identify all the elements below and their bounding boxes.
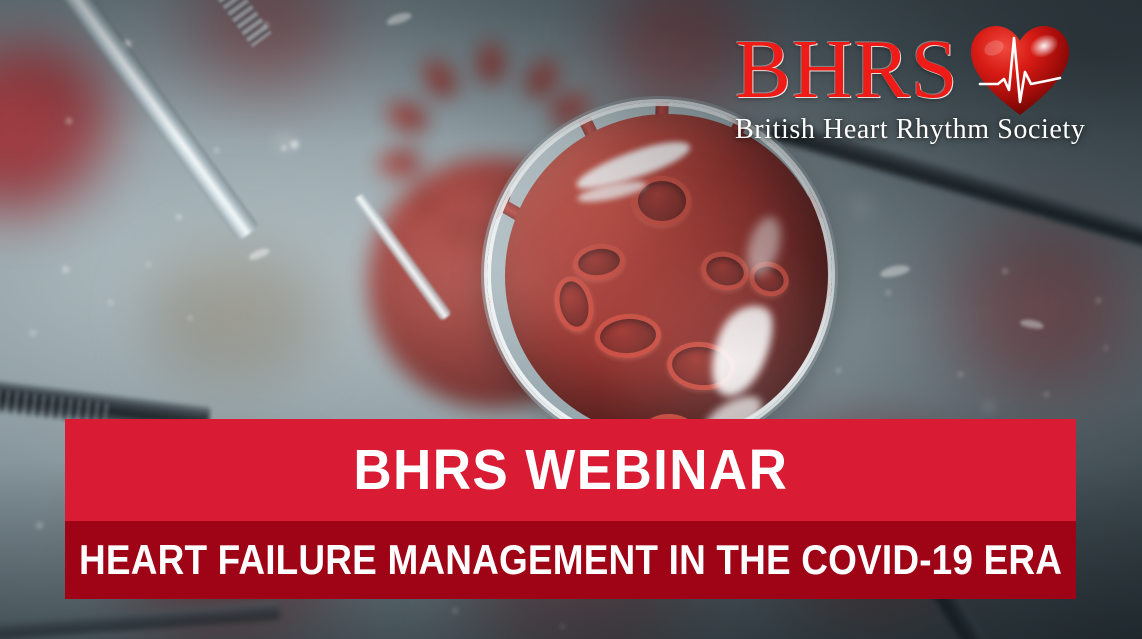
- banner-title-bar: BHRS WEBINAR: [65, 419, 1076, 521]
- webinar-banner-image: BHRS: [0, 0, 1142, 639]
- heart-ecg-icon: [968, 22, 1072, 118]
- bhrs-logo: BHRS: [735, 22, 1105, 146]
- banner-subtitle-bar: HEART FAILURE MANAGEMENT IN THE COVID-19…: [65, 521, 1076, 599]
- logo-tagline: British Heart Rhythm Society: [735, 114, 1105, 146]
- logo-acronym: BHRS: [735, 30, 958, 111]
- banner-subtitle: HEART FAILURE MANAGEMENT IN THE COVID-19…: [79, 536, 1062, 584]
- banner-title: BHRS WEBINAR: [353, 437, 788, 503]
